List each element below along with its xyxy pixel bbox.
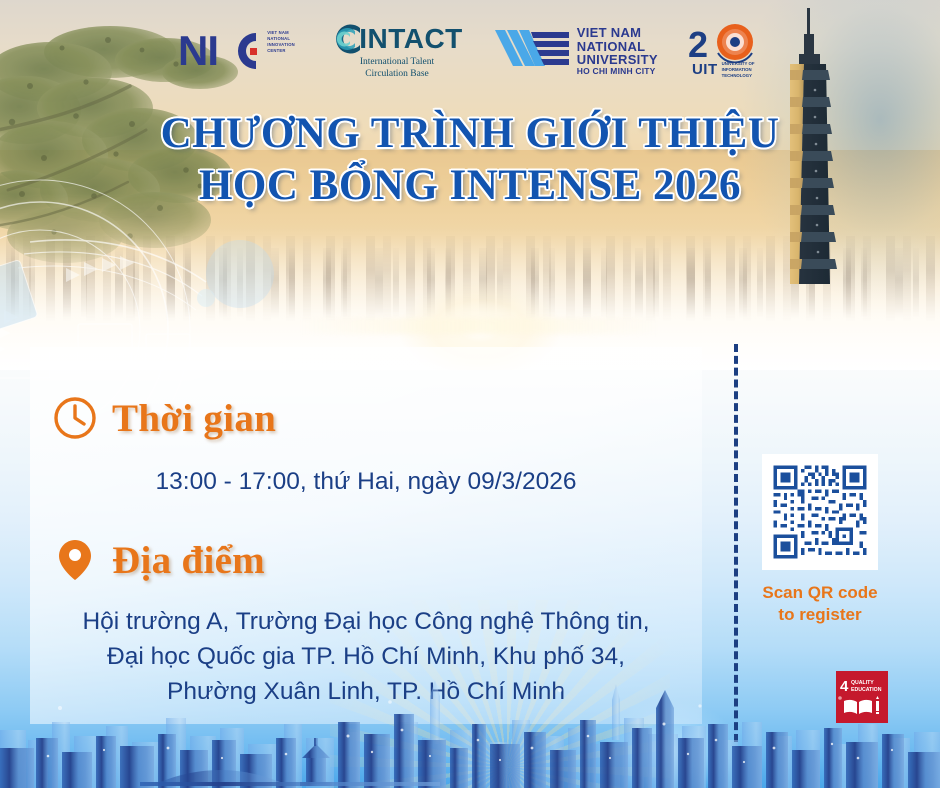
time-section-heading: Thời gian: [112, 399, 276, 438]
uit-logo-subtext: UNIVERSITY OF INFORMATION TECHNOLOGY: [722, 61, 758, 78]
intact-logo: INTACT International Talent Circulation …: [331, 22, 463, 81]
qr-caption-line1: Scan QR code: [762, 582, 878, 604]
svg-text:2: 2: [688, 24, 708, 63]
background-lens-flare-streak: [300, 318, 660, 334]
qr-caption-line2: to register: [762, 604, 878, 626]
vnu-logo-line1: VIET NAM: [577, 26, 658, 39]
intact-logo-wordmark: INTACT: [359, 25, 463, 53]
location-section-line1: Hội trường A, Trường Đại học Công nghệ T…: [30, 605, 702, 640]
qr-section: Scan QR code to register: [762, 454, 878, 626]
uit-logo-wordmark: UIT: [692, 62, 718, 77]
partner-logo-row: NI VIET NAM NATIONAL INNOVATION CENTER I…: [0, 16, 940, 86]
intact-logo-subtext-line2: Circulation Base: [360, 69, 434, 81]
map-pin-icon: [52, 537, 98, 583]
vnu-logo: VIET NAM NATIONAL UNIVERSITY HO CHI MINH…: [493, 26, 658, 76]
time-section-value: 13:00 - 17:00, thứ Hai, ngày 09/3/2026: [30, 465, 702, 500]
qr-caption: Scan QR code to register: [762, 582, 878, 626]
time-section: Thời gian 13:00 - 17:00, thứ Hai, ngày 0…: [30, 395, 702, 500]
skyline-sparkle-overlay: [0, 668, 940, 788]
nic-mark-icon: NI: [178, 27, 264, 75]
poster-canvas: NI VIET NAM NATIONAL INNOVATION CENTER I…: [0, 0, 940, 788]
poster-title-line1: CHƯƠNG TRÌNH GIỚI THIỆU: [0, 108, 940, 160]
vnu-logo-line2: NATIONAL: [577, 40, 658, 53]
qr-code-container[interactable]: [762, 454, 878, 570]
poster-title-line2: HỌC BỔNG INTENSE 2026: [0, 160, 940, 212]
vnu-logo-text: VIET NAM NATIONAL UNIVERSITY HO CHI MINH…: [577, 26, 658, 75]
vnu-logo-line4: HO CHI MINH CITY: [577, 67, 658, 76]
vnu-book-icon: [493, 26, 571, 76]
uit-logo: 2 UIT UNIVERSITY OF INFORMATION TECHNOLO…: [688, 23, 762, 78]
uit-anniversary-icon: 2: [688, 23, 762, 63]
location-section-heading: Địa điểm: [112, 541, 265, 580]
nic-logo-subtext: VIET NAM NATIONAL INNOVATION CENTER: [267, 30, 301, 54]
svg-text:NI: NI: [178, 27, 218, 74]
nic-logo: NI VIET NAM NATIONAL INNOVATION CENTER: [178, 27, 301, 75]
poster-title: CHƯƠNG TRÌNH GIỚI THIỆU HỌC BỔNG INTENSE…: [0, 108, 940, 213]
qr-code-icon[interactable]: [770, 462, 870, 562]
vnu-logo-line3: UNIVERSITY: [577, 53, 658, 66]
clock-icon: [52, 395, 98, 441]
intact-logo-subtext-line1: International Talent: [360, 57, 434, 69]
